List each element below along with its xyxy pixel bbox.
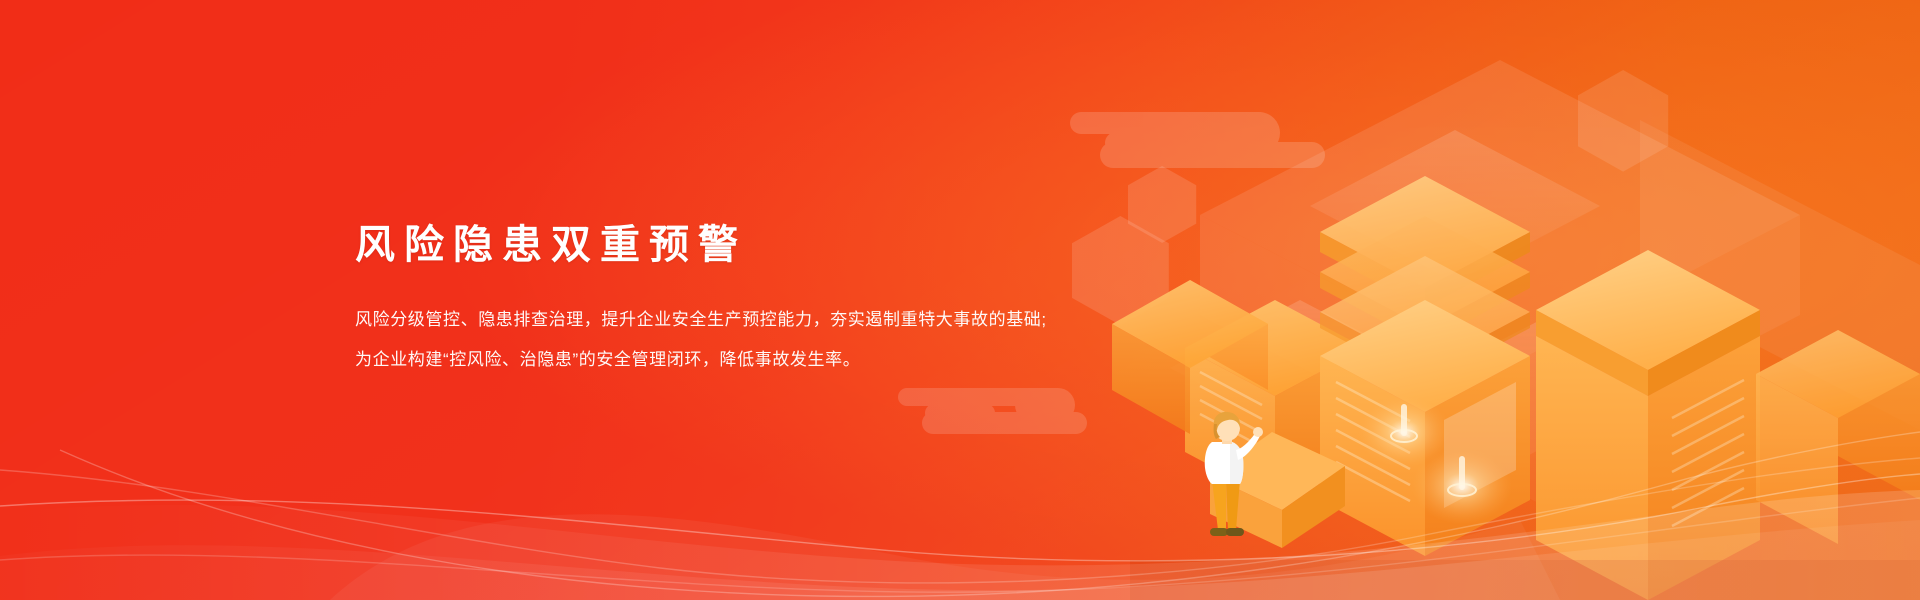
glow-beacon-right xyxy=(1412,448,1512,524)
backdrop-plate-2 xyxy=(1640,120,1920,430)
cloud-shape-upper xyxy=(1070,112,1325,168)
tower-main-panel xyxy=(1444,382,1516,508)
subtitle-line-1: 风险分级管控、隐患排查治理，提升企业安全生产预控能力，夯实遏制重特大事故的基础; xyxy=(355,300,1175,340)
copy-block: 风险隐患双重预警 风险分级管控、隐患排查治理，提升企业安全生产预控能力，夯实遏制… xyxy=(355,222,1175,380)
figure-shoe-left xyxy=(1210,528,1228,536)
wave-line-1 xyxy=(0,474,1920,561)
hex-cube-right xyxy=(1578,70,1668,172)
tower-right-top xyxy=(1536,250,1760,370)
tower-main-side-r xyxy=(1425,356,1530,556)
wave-line-4 xyxy=(0,498,1920,592)
server-tower-right xyxy=(1536,250,1760,600)
hero-banner: 风险隐患双重预警 风险分级管控、隐患排查治理，提升企业安全生产预控能力，夯实遏制… xyxy=(0,0,1920,600)
ground-shadow xyxy=(1130,560,1920,600)
page-title: 风险隐患双重预警 xyxy=(355,222,1175,268)
tower-right-vents xyxy=(1672,380,1744,526)
tower-right-side-r xyxy=(1648,336,1760,600)
server-block-far-right xyxy=(1756,330,1920,544)
tower-left-top xyxy=(1185,300,1365,396)
tower-main-vents xyxy=(1336,382,1410,501)
foreground-box-side xyxy=(1282,466,1345,548)
subtitle-line-2: 为企业构建“控风险、治隐患”的安全管理闭环，降低事故发生率。 xyxy=(355,340,1175,380)
wave-line-2 xyxy=(0,458,1920,583)
server-tower-main xyxy=(1320,176,1530,556)
presenter-figure xyxy=(1196,408,1266,546)
glow-beacon-left xyxy=(1358,396,1450,468)
tower-main-side-l xyxy=(1320,356,1425,556)
tower-left-side-r xyxy=(1275,348,1365,500)
cloud-shape-lower xyxy=(898,388,1087,434)
ghost-slab-b xyxy=(1360,310,1760,514)
figure-leg-left xyxy=(1212,480,1226,530)
subtitle-block: 风险分级管控、隐患排查治理，提升企业安全生产预控能力，夯实遏制重特大事故的基础;… xyxy=(355,268,1175,380)
backdrop-plate-top xyxy=(1200,60,1800,370)
wave-line-3 xyxy=(60,432,1920,596)
wave-fill-1 xyxy=(0,490,1920,600)
backdrop-plate-right xyxy=(1500,215,1800,470)
figure-shoe-right xyxy=(1226,528,1244,536)
wave-fill-2 xyxy=(0,520,1920,600)
ghost-slab-a xyxy=(1310,130,1600,282)
tower-right-cap-l xyxy=(1536,310,1648,396)
figure-hand xyxy=(1253,427,1263,437)
tower-right-side-l xyxy=(1536,336,1648,600)
wave-fill-3 xyxy=(330,514,1560,600)
figure-leg-right xyxy=(1226,480,1240,530)
server-stack-center xyxy=(1320,176,1530,384)
tower-main-top xyxy=(1320,300,1530,412)
tower-right-cap-r xyxy=(1648,310,1760,396)
